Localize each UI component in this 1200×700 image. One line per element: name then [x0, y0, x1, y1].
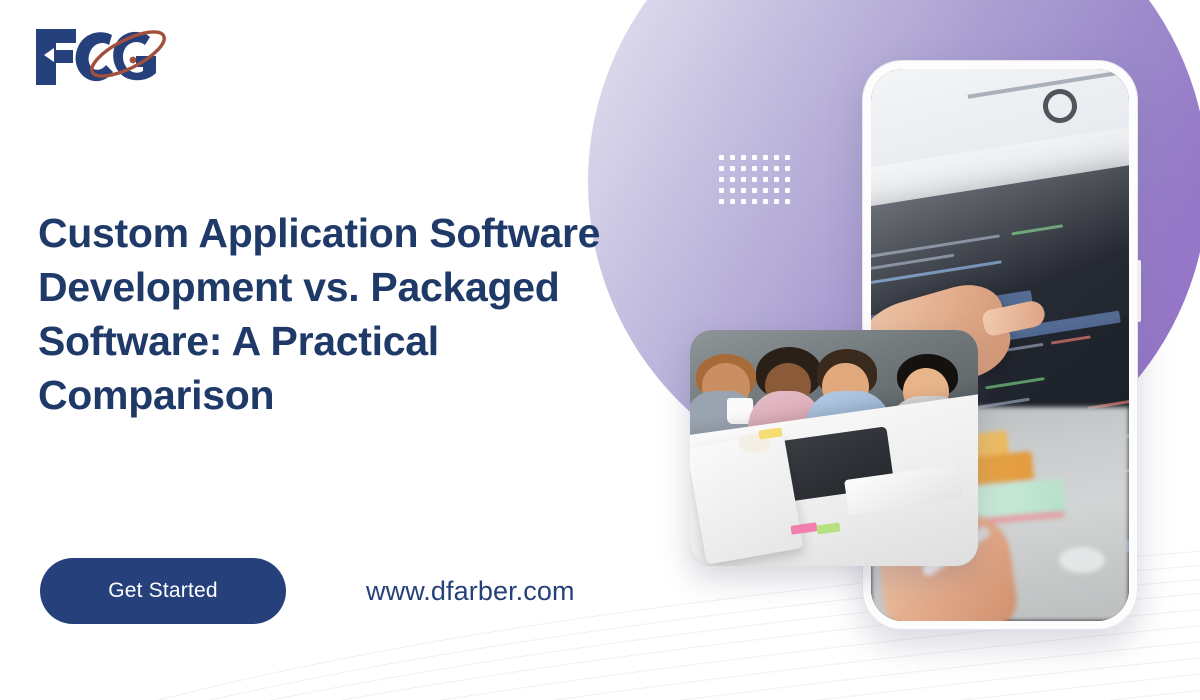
- orbit-node-icon: [130, 57, 137, 64]
- phone-side-button-icon[interactable]: [1137, 260, 1141, 322]
- get-started-button[interactable]: Get Started: [40, 558, 286, 624]
- marketing-banner: Custom Application Software Development …: [0, 0, 1200, 700]
- website-url[interactable]: www.dfarber.com: [366, 576, 575, 607]
- cta-row: Get Started www.dfarber.com: [40, 558, 575, 624]
- team-collaboration-photo: [690, 330, 978, 566]
- fcg-logo[interactable]: [30, 21, 170, 93]
- dot-grid-decoration: [719, 155, 796, 210]
- page-title: Custom Application Software Development …: [38, 206, 678, 422]
- mouse-icon: [1059, 547, 1105, 573]
